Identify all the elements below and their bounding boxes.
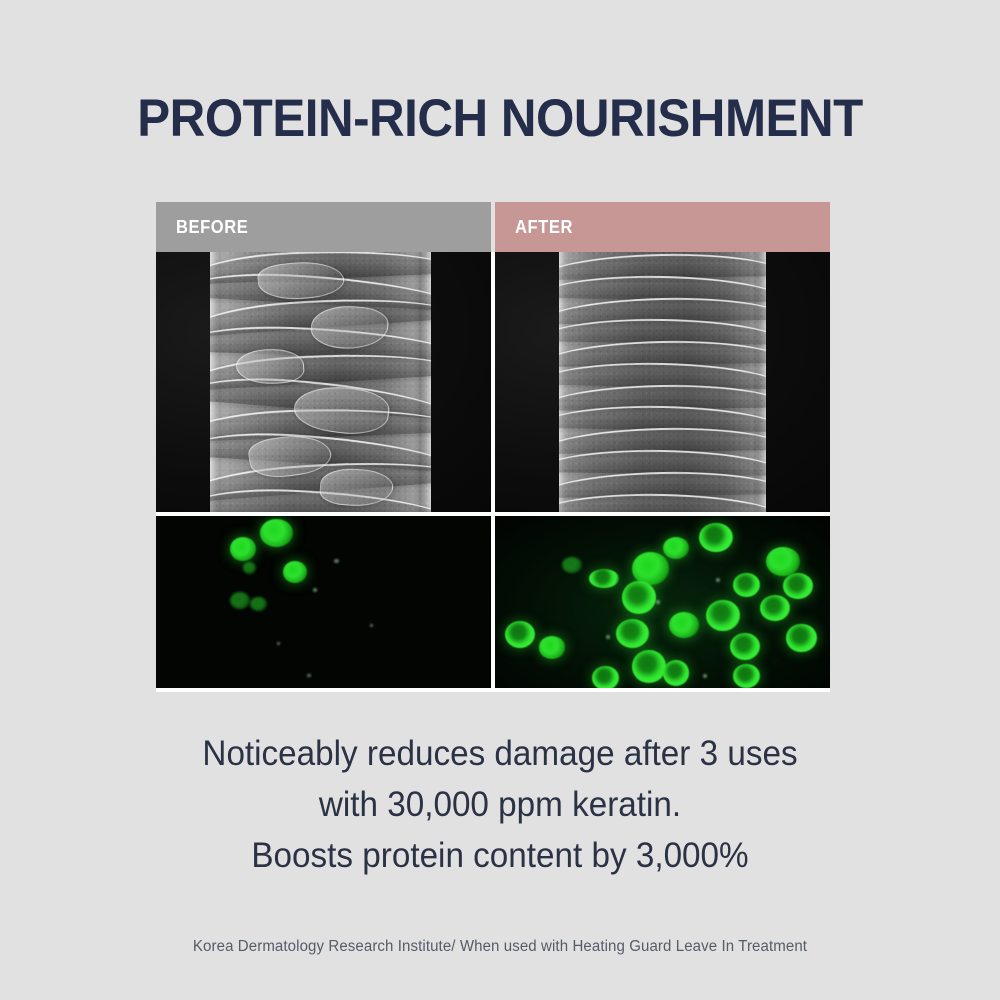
fluorescence-speck (716, 578, 720, 582)
before-label-text: BEFORE (176, 217, 248, 238)
comparison-label-row: BEFORE AFTER (156, 202, 830, 252)
page-title: PROTEIN-RICH NOURISHMENT (35, 92, 965, 145)
sem-noise-texture (210, 252, 431, 512)
fluorescent-cell (760, 595, 790, 621)
fluorescence-speck (277, 642, 280, 645)
fluorescent-cell (733, 664, 760, 688)
fluorescence-speck (606, 635, 610, 639)
fluorescent-cell (783, 573, 813, 599)
fluorescence-speck (334, 559, 339, 563)
fluorescent-cell (706, 600, 740, 631)
fluorescent-cell (592, 666, 619, 688)
fluorescent-cell (230, 537, 257, 561)
fluorescent-cell (786, 624, 816, 652)
after-fluorescence-panel (495, 516, 830, 688)
footnote: Korea Dermatology Research Institute/ Wh… (15, 938, 985, 956)
body-line-2: with 30,000 ppm keratin. (25, 779, 975, 830)
fluorescence-speck (703, 674, 707, 678)
fluorescent-cell (283, 561, 306, 583)
after-label-bar: AFTER (495, 202, 830, 252)
sem-micrograph-row (156, 252, 830, 512)
fluorescent-cell (250, 597, 267, 611)
after-sem-panel (495, 252, 830, 512)
fluorescent-cell (663, 537, 690, 559)
after-label-text: AFTER (515, 217, 573, 238)
fluorescent-cell (622, 581, 656, 614)
fluorescent-cell (632, 650, 666, 683)
fluorescent-cell (730, 633, 760, 661)
before-fluorescence-panel (156, 516, 491, 688)
hair-fibre-damaged (210, 252, 431, 512)
hair-fibre-smooth (559, 252, 767, 512)
body-line-1: Noticeably reduces damage after 3 uses (25, 728, 975, 779)
before-label-bar: BEFORE (156, 202, 491, 252)
fluorescent-cell (230, 592, 250, 609)
fluorescent-cell (539, 636, 566, 658)
fluorescent-cell (260, 519, 294, 547)
fluorescent-cell (699, 523, 733, 552)
sem-noise-texture (559, 252, 767, 512)
fluorescence-row (156, 512, 830, 688)
fluorescent-cell (766, 547, 800, 576)
fluorescent-cell (562, 557, 582, 572)
fluorescence-background (156, 516, 491, 688)
body-line-3: Boosts protein content by 3,000% (25, 830, 975, 881)
body-copy: Noticeably reduces damage after 3 uses w… (25, 728, 975, 881)
fluorescent-cell (632, 552, 669, 585)
fluorescent-cell (733, 573, 760, 597)
before-after-comparison-figure: BEFORE AFTER (156, 202, 830, 692)
before-sem-panel (156, 252, 491, 512)
